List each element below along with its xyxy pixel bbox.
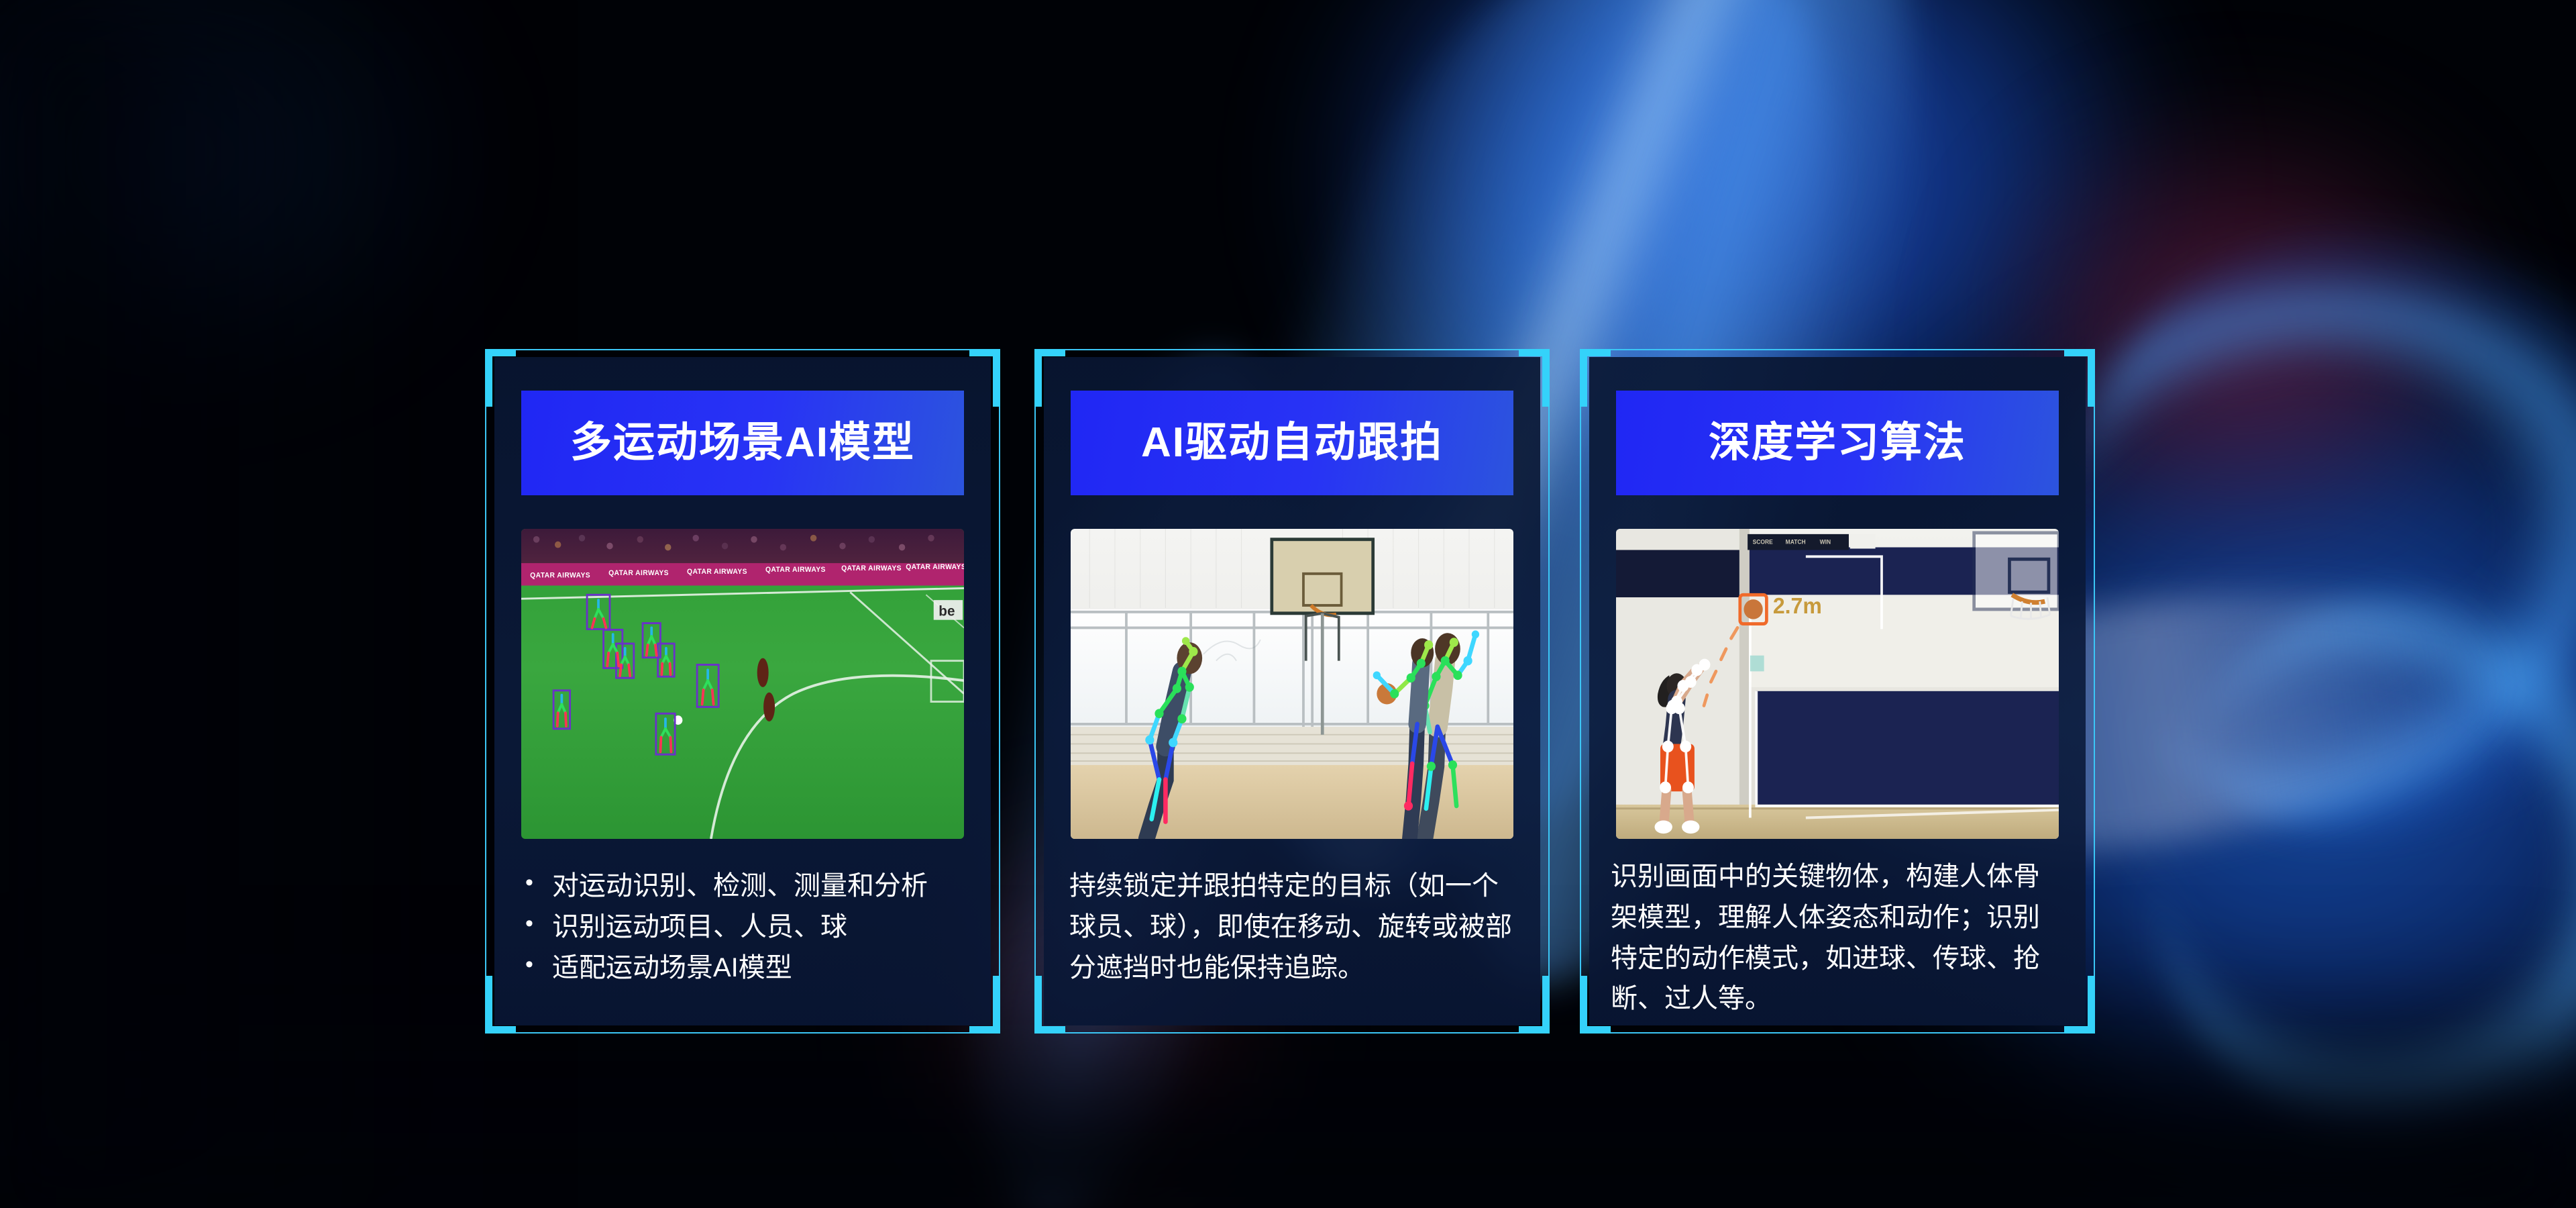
card-title-banner: 深度学习算法 bbox=[1616, 391, 2059, 495]
basketball-gym-pose-skeleton-thumbnail[interactable] bbox=[1071, 529, 1513, 839]
list-item: 对运动识别、检测、测量和分析 bbox=[511, 866, 975, 907]
card-body: 识别画面中的关键物体，构建人体骨架模型，理解人体姿态和动作；识别特定的动作模式，… bbox=[1605, 856, 2070, 1019]
svg-text:WIN: WIN bbox=[1820, 538, 1831, 545]
feature-card-deep-learning-algorithm[interactable]: 深度学习算法 bbox=[1580, 349, 2095, 1034]
svg-text:SCORE: SCORE bbox=[1753, 538, 1773, 545]
card-body: 对运动识别、检测、测量和分析 识别运动项目、人员、球 适配运动场景AI模型 bbox=[511, 866, 975, 988]
svg-text:QATAR AIRWAYS: QATAR AIRWAYS bbox=[608, 569, 669, 577]
measurement-label: 2.7m bbox=[1773, 593, 1822, 618]
card-title-banner: 多运动场景AI模型 bbox=[521, 391, 964, 495]
card-frame-left bbox=[1034, 349, 1036, 1034]
feature-card-multi-sport-ai-model[interactable]: 多运动场景AI模型 bbox=[485, 349, 1000, 1034]
feature-card-row: 多运动场景AI模型 bbox=[0, 0, 2576, 1208]
card-title: 多运动场景AI模型 bbox=[570, 422, 915, 464]
svg-text:QATAR AIRWAYS: QATAR AIRWAYS bbox=[765, 566, 826, 574]
basketball-gym-illustration bbox=[1071, 529, 1513, 839]
card-frame-right bbox=[2094, 349, 2095, 1034]
basketball-shot-measurement-thumbnail[interactable]: SCOREMATCHWIN bbox=[1616, 529, 2059, 839]
soccer-scene-illustration: QATAR AIRWAYS QATAR AIRWAYS QATAR AIRWAY… bbox=[521, 529, 964, 839]
card-body: 持续锁定并跟拍特定的目标（如一个球员、球），即使在移动、旋转或被部分遮挡时也能保… bbox=[1060, 866, 1524, 988]
list-item: 适配运动场景AI模型 bbox=[511, 948, 975, 989]
svg-text:QATAR AIRWAYS: QATAR AIRWAYS bbox=[687, 568, 747, 576]
feature-card-ai-auto-tracking[interactable]: AI驱动自动跟拍 bbox=[1034, 349, 1550, 1034]
card-title: 深度学习算法 bbox=[1709, 422, 1966, 464]
hoop-assembly bbox=[1974, 533, 2059, 619]
svg-text:be: be bbox=[938, 603, 955, 619]
card-frame-top bbox=[485, 349, 1000, 350]
card-frame-top bbox=[1580, 349, 2095, 350]
card-frame-top bbox=[1034, 349, 1550, 350]
card-title: AI驱动自动跟拍 bbox=[1141, 422, 1443, 464]
svg-text:QATAR AIRWAYS: QATAR AIRWAYS bbox=[530, 572, 590, 580]
card-frame-left bbox=[1580, 349, 1581, 1034]
card-frame-bottom bbox=[485, 1032, 1000, 1034]
card-frame-right bbox=[999, 349, 1000, 1034]
shot-measurement-illustration: SCOREMATCHWIN bbox=[1616, 529, 2059, 839]
svg-text:MATCH: MATCH bbox=[1786, 538, 1806, 545]
feature-paragraph: 持续锁定并跟拍特定的目标（如一个球员、球），即使在移动、旋转或被部分遮挡时也能保… bbox=[1060, 866, 1524, 988]
list-item: 识别运动项目、人员、球 bbox=[511, 907, 975, 948]
card-frame-bottom bbox=[1034, 1032, 1550, 1034]
feature-paragraph: 识别画面中的关键物体，构建人体骨架模型，理解人体姿态和动作；识别特定的动作模式，… bbox=[1605, 856, 2070, 1019]
svg-text:QATAR AIRWAYS: QATAR AIRWAYS bbox=[841, 564, 902, 572]
card-title-banner: AI驱动自动跟拍 bbox=[1071, 391, 1513, 495]
soccer-pose-detection-thumbnail[interactable]: QATAR AIRWAYS QATAR AIRWAYS QATAR AIRWAY… bbox=[521, 529, 964, 839]
card-frame-bottom bbox=[1580, 1032, 2095, 1034]
card-frame-right bbox=[1548, 349, 1550, 1034]
feature-bullet-list: 对运动识别、检测、测量和分析 识别运动项目、人员、球 适配运动场景AI模型 bbox=[511, 866, 975, 988]
svg-text:QATAR AIRWAYS: QATAR AIRWAYS bbox=[906, 563, 964, 571]
card-frame-left bbox=[485, 349, 486, 1034]
